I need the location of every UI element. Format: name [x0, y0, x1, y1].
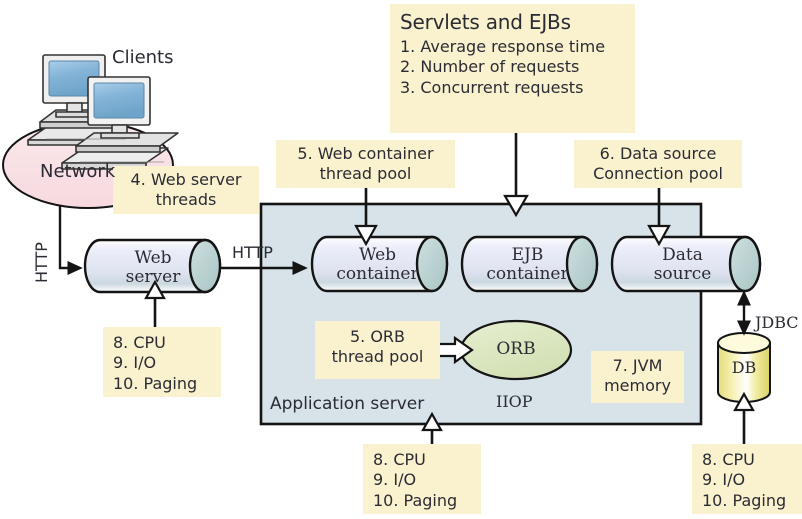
- network-label: Network: [40, 161, 115, 182]
- callout-os-metrics-left: 8. CPU 9. I/O 10. Paging: [103, 327, 221, 397]
- web-server-cylinder: [85, 240, 220, 292]
- callout-os-metrics-center-line1: 8. CPU: [373, 450, 471, 470]
- callout-orb-thread-pool-line2: thread pool: [323, 347, 432, 367]
- callout-os-metrics-left-line3: 10. Paging: [113, 374, 211, 394]
- callout-os-metrics-right: 8. CPU 9. I/O 10. Paging: [692, 444, 802, 514]
- callout-data-source-pool-line1: 6. Data source: [582, 144, 734, 164]
- jdbc-label: JDBC: [755, 313, 799, 332]
- http-vertical-label: HTTP: [32, 242, 51, 283]
- http-horizontal-label: HTTP: [232, 243, 273, 262]
- callout-jvm-memory-line2: memory: [599, 376, 676, 396]
- callout-orb-thread-pool-line1: 5. ORB: [323, 327, 432, 347]
- diagram-canvas: Clients Network HTTP HTTP Web server Web…: [0, 0, 802, 519]
- callout-data-source-pool-line2: Connection pool: [582, 164, 734, 184]
- callout-os-metrics-center: 8. CPU 9. I/O 10. Paging: [363, 444, 481, 514]
- callout-web-server-threads: 4. Web server threads: [113, 166, 259, 214]
- callout-orb-thread-pool: 5. ORB thread pool: [315, 321, 440, 379]
- callout-os-metrics-left-line1: 8. CPU: [113, 333, 211, 353]
- orb-ellipse: [461, 321, 571, 379]
- callout-servlets-ejbs-header: Servlets and EJBs: [400, 10, 625, 36]
- application-server-label: Application server: [270, 394, 424, 414]
- callout-jvm-memory: 7. JVM memory: [591, 351, 684, 403]
- callout-os-metrics-right-line2: 9. I/O: [702, 470, 792, 490]
- callout-web-server-threads-line1: 4. Web server: [121, 170, 251, 190]
- callout-web-server-threads-line2: threads: [121, 190, 251, 210]
- data-source-cylinder: [612, 237, 760, 291]
- callout-servlets-ejbs-item-2: 2. Number of requests: [400, 57, 625, 77]
- callout-web-container-pool: 5. Web container thread pool: [276, 140, 455, 188]
- callout-servlets-ejbs-item-1: 1. Average response time: [400, 37, 625, 57]
- callout-servlets-ejbs: Servlets and EJBs 1. Average response ti…: [390, 4, 635, 133]
- ejb-container-cylinder: [462, 237, 597, 291]
- callout-os-metrics-center-line2: 9. I/O: [373, 470, 471, 490]
- callout-os-metrics-right-line3: 10. Paging: [702, 491, 792, 511]
- callout-os-metrics-left-line2: 9. I/O: [113, 353, 211, 373]
- callout-jvm-memory-line1: 7. JVM: [599, 356, 676, 376]
- iiop-label: IIOP: [496, 392, 533, 411]
- db-cylinder: [718, 333, 770, 402]
- clients-label: Clients: [112, 47, 174, 68]
- callout-servlets-ejbs-item-3: 3. Concurrent requests: [400, 78, 625, 98]
- callout-web-container-pool-line2: thread pool: [284, 164, 447, 184]
- edge-network-to-webserver: [60, 205, 80, 268]
- callout-os-metrics-right-line1: 8. CPU: [702, 450, 792, 470]
- callout-web-container-pool-line1: 5. Web container: [284, 144, 447, 164]
- callout-data-source-pool: 6. Data source Connection pool: [574, 140, 742, 188]
- web-container-cylinder: [312, 237, 447, 291]
- callout-os-metrics-center-line3: 10. Paging: [373, 491, 471, 511]
